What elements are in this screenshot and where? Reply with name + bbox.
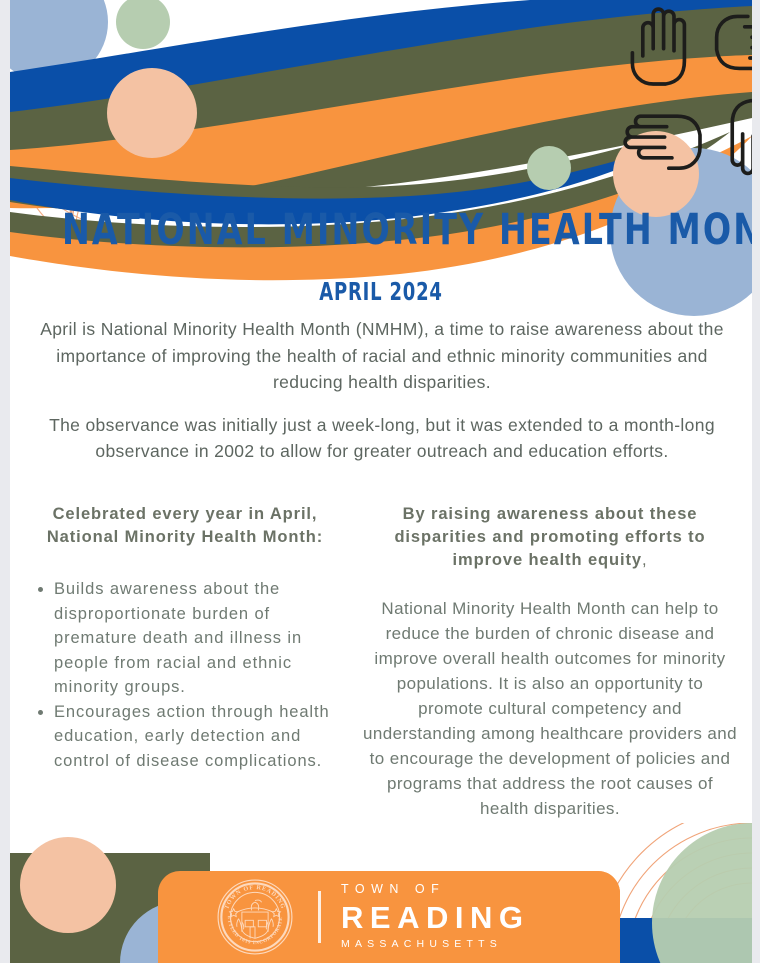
circle-peach-bottomleft <box>20 837 116 933</box>
list-item: Encourages action through health educati… <box>54 700 338 774</box>
right-column-body: National Minority Health Month can help … <box>362 596 738 821</box>
left-column: Celebrated every year in April, National… <box>32 503 338 821</box>
page-subtitle: APRIL 2024 <box>84 277 678 306</box>
circle-sage-bottomright <box>652 823 752 963</box>
page-title: NATIONAL MINORITY HEALTH MONTH <box>62 205 700 255</box>
right-column-heading-comma: , <box>642 551 647 569</box>
brand-massachusetts: MASSACHUSETTS <box>341 939 529 950</box>
list-item: Builds awareness about the disproportion… <box>54 577 338 700</box>
intro-paragraph-2: The observance was initially just a week… <box>32 412 732 465</box>
circle-sage-right <box>527 146 571 190</box>
brand-divider <box>318 891 321 943</box>
left-column-bullet-list: Builds awareness about the disproportion… <box>32 577 338 773</box>
footer-brand-bar: TOWN OF READING SETTLED 1639 INCORPORATE… <box>158 871 620 963</box>
brand-reading: READING <box>341 902 529 933</box>
right-column-heading-text: By raising awareness about these dispari… <box>394 505 705 569</box>
brand-town-of: TOWN OF <box>341 883 529 896</box>
circle-sage-topleft <box>116 0 170 49</box>
flyer-page: NATIONAL MINORITY HEALTH MONTH APRIL 202… <box>10 0 752 963</box>
svg-text:SETTLED 1639 INCORPORATED: SETTLED 1639 INCORPORATED <box>214 876 284 946</box>
intro-section: April is National Minority Health Month … <box>32 316 732 479</box>
right-column-heading: By raising awareness about these dispari… <box>362 503 738 572</box>
svg-text:TOWN OF READING: TOWN OF READING <box>224 885 285 910</box>
two-column-section: Celebrated every year in April, National… <box>32 503 738 821</box>
intro-paragraph-1: April is National Minority Health Month … <box>32 316 732 396</box>
right-column: By raising awareness about these dispari… <box>362 503 738 821</box>
circle-peach-header <box>107 68 197 158</box>
town-of-reading-seal: TOWN OF READING SETTLED 1639 INCORPORATE… <box>214 876 296 958</box>
title-block: NATIONAL MINORITY HEALTH MONTH APRIL 202… <box>10 205 752 306</box>
left-column-heading: Celebrated every year in April, National… <box>32 503 338 549</box>
brand-lockup: TOWN OF READING MASSACHUSETTS <box>341 883 529 952</box>
